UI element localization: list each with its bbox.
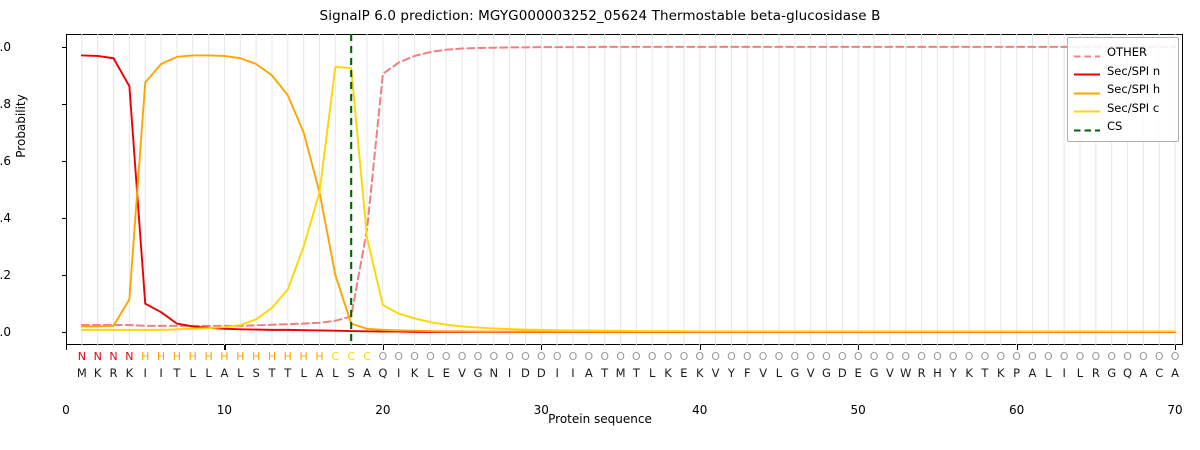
residue-label: L bbox=[205, 365, 211, 381]
x-tick-label: 60 bbox=[1009, 403, 1024, 417]
region-label: O bbox=[489, 349, 498, 365]
residue-label: H bbox=[933, 365, 942, 381]
region-label: O bbox=[632, 349, 641, 365]
residue-label: E bbox=[855, 365, 862, 381]
residue-label: G bbox=[1107, 365, 1116, 381]
region-label: H bbox=[141, 349, 149, 365]
plot-area bbox=[66, 34, 1183, 345]
residue-label: M bbox=[616, 365, 626, 381]
region-label: O bbox=[505, 349, 514, 365]
x-tick-label: 30 bbox=[534, 403, 549, 417]
residue-label: Q bbox=[378, 365, 387, 381]
residue-label: F bbox=[744, 365, 751, 381]
residue-label: A bbox=[221, 365, 229, 381]
residue-label: K bbox=[411, 365, 419, 381]
residue-label: I bbox=[571, 365, 574, 381]
region-label: O bbox=[616, 349, 625, 365]
legend-swatch-icon bbox=[1074, 102, 1100, 113]
residue-label: L bbox=[649, 365, 655, 381]
x-tick-label: 50 bbox=[851, 403, 866, 417]
y-tick-label: 0.6 bbox=[0, 154, 11, 168]
y-tick-label: 1.0 bbox=[0, 40, 11, 54]
residue-label: L bbox=[190, 365, 196, 381]
region-label: O bbox=[426, 349, 435, 365]
residue-label: G bbox=[790, 365, 799, 381]
residue-label: Q bbox=[1123, 365, 1132, 381]
residue-label: I bbox=[159, 365, 162, 381]
region-label: O bbox=[458, 349, 467, 365]
region-label: H bbox=[157, 349, 165, 365]
region-label: O bbox=[1060, 349, 1069, 365]
residue-label: L bbox=[237, 365, 243, 381]
residue-label: A bbox=[585, 365, 593, 381]
y-tick-mark bbox=[62, 332, 67, 333]
signalp-prediction-figure: SignalP 6.0 prediction: MGYG000003252_05… bbox=[0, 0, 1200, 450]
residue-label: I bbox=[144, 365, 147, 381]
residue-label: E bbox=[443, 365, 450, 381]
y-tick-label: 0.4 bbox=[0, 211, 11, 225]
legend-item-cs[interactable]: CS bbox=[1074, 117, 1172, 136]
legend: OTHERSec/SPI nSec/SPI hSec/SPI cCS bbox=[1067, 37, 1179, 142]
region-label: O bbox=[680, 349, 689, 365]
legend-swatch-icon bbox=[1074, 65, 1100, 76]
region-label: O bbox=[1044, 349, 1053, 365]
region-label: O bbox=[933, 349, 942, 365]
legend-item-label: Sec/SPI n bbox=[1107, 64, 1160, 78]
region-label: O bbox=[806, 349, 815, 365]
series-line-other bbox=[82, 47, 1175, 326]
residue-label: I bbox=[555, 365, 558, 381]
y-tick-label: 0.0 bbox=[0, 325, 11, 339]
region-label: O bbox=[1092, 349, 1101, 365]
region-label: O bbox=[664, 349, 673, 365]
residue-label: A bbox=[1029, 365, 1037, 381]
page-title: SignalP 6.0 prediction: MGYG000003252_05… bbox=[0, 8, 1200, 24]
y-tick-mark bbox=[62, 218, 67, 219]
x-tick-label: 40 bbox=[692, 403, 707, 417]
residue-label: V bbox=[886, 365, 894, 381]
residue-label: I bbox=[508, 365, 511, 381]
residue-label: K bbox=[696, 365, 704, 381]
series-line-sec-spi-n bbox=[82, 55, 1175, 331]
region-label: H bbox=[284, 349, 292, 365]
region-label: O bbox=[1107, 349, 1116, 365]
residue-label: G bbox=[822, 365, 831, 381]
residue-label: M bbox=[77, 365, 87, 381]
residue-label: T bbox=[284, 365, 291, 381]
y-tick-mark bbox=[62, 47, 67, 48]
residue-label: T bbox=[633, 365, 640, 381]
residue-label: D bbox=[838, 365, 847, 381]
y-tick-label: 0.8 bbox=[0, 97, 11, 111]
region-label: O bbox=[949, 349, 958, 365]
residue-label: T bbox=[981, 365, 988, 381]
region-label: O bbox=[569, 349, 578, 365]
legend-item-label: Sec/SPI c bbox=[1107, 101, 1159, 115]
y-tick-mark bbox=[62, 275, 67, 276]
region-label: O bbox=[442, 349, 451, 365]
region-label: O bbox=[965, 349, 974, 365]
region-annotation-row: NNNNHHHHHHHHHHHHCCCOOOOOOOOOOOOOOOOOOOOO… bbox=[66, 349, 1183, 365]
residue-label: A bbox=[316, 365, 324, 381]
x-tick-label: 70 bbox=[1167, 403, 1182, 417]
residue-label: S bbox=[252, 365, 259, 381]
residue-label: I bbox=[1062, 365, 1065, 381]
region-label: O bbox=[981, 349, 990, 365]
y-tick-label: 0.2 bbox=[0, 268, 11, 282]
residue-label: R bbox=[1092, 365, 1100, 381]
residue-label: C bbox=[1155, 365, 1163, 381]
region-label: O bbox=[886, 349, 895, 365]
region-label: N bbox=[78, 349, 86, 365]
region-label: N bbox=[125, 349, 133, 365]
region-label: H bbox=[315, 349, 323, 365]
region-label: H bbox=[189, 349, 197, 365]
legend-item-sec-spi-c[interactable]: Sec/SPI c bbox=[1074, 99, 1172, 118]
residue-label: L bbox=[776, 365, 782, 381]
region-label: O bbox=[727, 349, 736, 365]
legend-item-label: OTHER bbox=[1107, 45, 1147, 59]
region-label: H bbox=[173, 349, 181, 365]
residue-sequence-row: MKRKIITLLALSTTLALSAQIKLEVGNIDDIIATMTLKEK… bbox=[66, 365, 1183, 381]
region-label: O bbox=[585, 349, 594, 365]
chart-canvas bbox=[66, 34, 1183, 345]
residue-label: R bbox=[918, 365, 926, 381]
region-label: O bbox=[901, 349, 910, 365]
region-label: O bbox=[759, 349, 768, 365]
region-label: H bbox=[268, 349, 276, 365]
residue-label: A bbox=[1139, 365, 1147, 381]
region-label: O bbox=[379, 349, 388, 365]
series-line-sec-spi-c bbox=[82, 67, 1175, 331]
region-label: O bbox=[854, 349, 863, 365]
region-label: N bbox=[94, 349, 102, 365]
residue-label: L bbox=[1077, 365, 1083, 381]
legend-swatch-icon bbox=[1074, 47, 1100, 58]
region-label: O bbox=[775, 349, 784, 365]
legend-item-label: CS bbox=[1107, 119, 1122, 133]
region-label: H bbox=[220, 349, 228, 365]
legend-swatch-icon bbox=[1074, 121, 1100, 132]
residue-label: V bbox=[807, 365, 815, 381]
y-axis-label: Probability bbox=[14, 66, 28, 186]
residue-label: W bbox=[900, 365, 911, 381]
region-label: C bbox=[363, 349, 371, 365]
region-label: O bbox=[474, 349, 483, 365]
series-line-sec-spi-h bbox=[82, 55, 1175, 331]
region-label: O bbox=[1155, 349, 1164, 365]
region-label: C bbox=[347, 349, 355, 365]
residue-label: V bbox=[458, 365, 466, 381]
region-label: O bbox=[790, 349, 799, 365]
residue-label: L bbox=[427, 365, 433, 381]
region-label: O bbox=[711, 349, 720, 365]
region-label: C bbox=[332, 349, 340, 365]
region-label: O bbox=[822, 349, 831, 365]
residue-label: K bbox=[997, 365, 1005, 381]
legend-swatch-icon bbox=[1074, 84, 1100, 95]
residue-label: A bbox=[363, 365, 371, 381]
residue-label: Y bbox=[728, 365, 735, 381]
region-label: O bbox=[996, 349, 1005, 365]
residue-label: P bbox=[1013, 365, 1020, 381]
y-tick-mark bbox=[62, 161, 67, 162]
residue-label: G bbox=[870, 365, 879, 381]
residue-label: N bbox=[489, 365, 498, 381]
region-label: O bbox=[838, 349, 847, 365]
residue-label: R bbox=[110, 365, 118, 381]
x-tick-label: 0 bbox=[62, 403, 70, 417]
residue-label: T bbox=[173, 365, 180, 381]
residue-label: A bbox=[1171, 365, 1179, 381]
residue-label: K bbox=[94, 365, 102, 381]
residue-label: T bbox=[268, 365, 275, 381]
residue-label: V bbox=[712, 365, 720, 381]
region-label: H bbox=[252, 349, 260, 365]
residue-label: L bbox=[332, 365, 338, 381]
region-label: O bbox=[917, 349, 926, 365]
region-label: O bbox=[1139, 349, 1148, 365]
legend-item-sec-spi-h[interactable]: Sec/SPI h bbox=[1074, 80, 1172, 99]
region-label: N bbox=[109, 349, 117, 365]
residue-label: L bbox=[300, 365, 306, 381]
region-label: O bbox=[537, 349, 546, 365]
region-label: O bbox=[1076, 349, 1085, 365]
region-label: O bbox=[1012, 349, 1021, 365]
region-label: O bbox=[410, 349, 419, 365]
x-tick-label: 20 bbox=[375, 403, 390, 417]
region-label: O bbox=[695, 349, 704, 365]
residue-label: K bbox=[126, 365, 134, 381]
residue-label: G bbox=[473, 365, 482, 381]
residue-label: I bbox=[397, 365, 400, 381]
region-label: O bbox=[1028, 349, 1037, 365]
region-label: O bbox=[521, 349, 530, 365]
region-label: O bbox=[553, 349, 562, 365]
region-label: O bbox=[1171, 349, 1180, 365]
residue-label: D bbox=[521, 365, 530, 381]
region-label: H bbox=[204, 349, 212, 365]
region-label: O bbox=[394, 349, 403, 365]
residue-label: E bbox=[680, 365, 687, 381]
x-tick-label: 10 bbox=[217, 403, 232, 417]
legend-item-label: Sec/SPI h bbox=[1107, 82, 1160, 96]
region-label: O bbox=[648, 349, 657, 365]
residue-label: L bbox=[1045, 365, 1051, 381]
residue-label: K bbox=[965, 365, 973, 381]
y-tick-mark bbox=[62, 104, 67, 105]
residue-label: T bbox=[601, 365, 608, 381]
region-label: O bbox=[743, 349, 752, 365]
residue-label: V bbox=[759, 365, 767, 381]
legend-item-other[interactable]: OTHER bbox=[1074, 43, 1172, 62]
region-label: H bbox=[300, 349, 308, 365]
region-label: O bbox=[600, 349, 609, 365]
residue-label: Y bbox=[950, 365, 957, 381]
residue-label: S bbox=[348, 365, 355, 381]
region-label: O bbox=[870, 349, 879, 365]
region-label: H bbox=[236, 349, 244, 365]
residue-label: D bbox=[537, 365, 546, 381]
residue-label: K bbox=[664, 365, 672, 381]
region-label: O bbox=[1123, 349, 1132, 365]
legend-item-sec-spi-n[interactable]: Sec/SPI n bbox=[1074, 62, 1172, 81]
